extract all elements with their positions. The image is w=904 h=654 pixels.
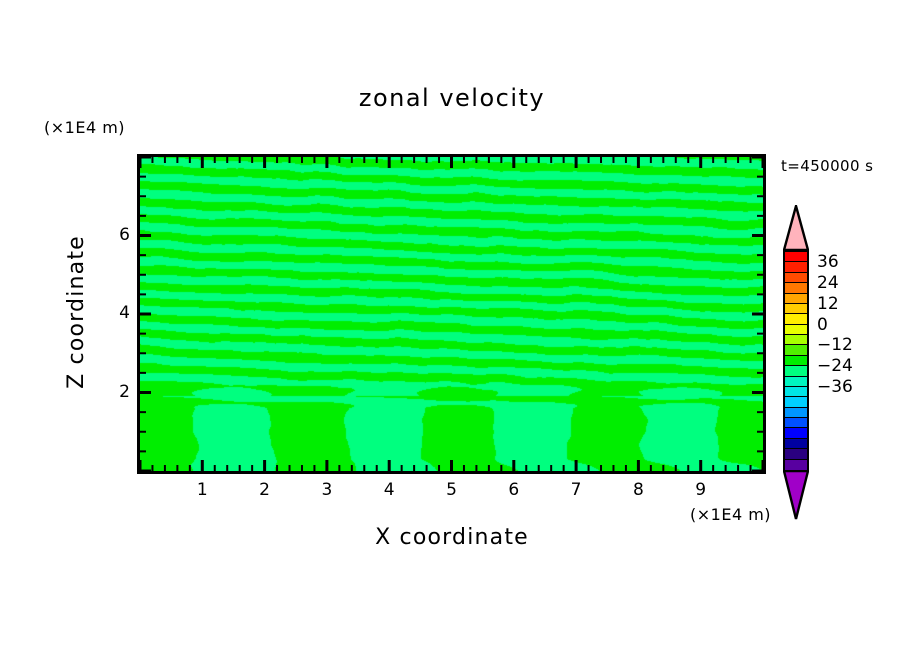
- colorbar-band: [785, 294, 807, 304]
- colorbar-band: [785, 418, 807, 428]
- colorbar-band: [785, 283, 807, 293]
- y-tick-label: 4: [100, 303, 130, 323]
- colorbar-band: [785, 449, 807, 459]
- colorbar-band: [785, 439, 807, 449]
- colorbar-band: [785, 397, 807, 407]
- y-axis-unit-label: (×1E4 m): [44, 118, 125, 137]
- colorbar-band: [785, 366, 807, 376]
- colorbar-band: [785, 345, 807, 355]
- colorbar-tick-label: 24: [817, 273, 839, 293]
- x-tick-label: 2: [250, 480, 280, 500]
- colorbar-tick-label: 12: [817, 294, 839, 314]
- x-tick-label: 8: [623, 480, 653, 500]
- colorbar-tick-label: −24: [817, 356, 853, 376]
- timestamp-label: t=450000 s: [781, 157, 873, 175]
- colorbar-bands: [783, 250, 809, 472]
- colorbar-band: [785, 335, 807, 345]
- y-axis-title: Z coordinate: [64, 212, 89, 412]
- contour-plot-area: [137, 154, 766, 474]
- colorbar: 3624120−12−24−36: [781, 205, 891, 520]
- colorbar-band: [785, 460, 807, 470]
- x-tick-label: 7: [561, 480, 591, 500]
- x-tick-label: 1: [187, 480, 217, 500]
- x-tick-label: 6: [499, 480, 529, 500]
- colorbar-band: [785, 356, 807, 366]
- colorbar-overflow-bottom-arrow: [783, 470, 809, 520]
- x-tick-label: 3: [312, 480, 342, 500]
- x-axis-unit-label: (×1E4 m): [690, 505, 771, 524]
- y-tick-label: 2: [100, 382, 130, 402]
- x-tick-label: 4: [374, 480, 404, 500]
- colorbar-tick-label: 36: [817, 252, 839, 272]
- colorbar-band: [785, 262, 807, 272]
- colorbar-band: [785, 387, 807, 397]
- colorbar-band: [785, 325, 807, 335]
- contour-field: [140, 157, 763, 471]
- figure-canvas: zonal velocity (×1E4 m) (×1E4 m) X coord…: [0, 0, 904, 654]
- colorbar-overflow-top-arrow: [783, 205, 809, 251]
- colorbar-band: [785, 428, 807, 438]
- x-axis-title: X coordinate: [250, 525, 654, 550]
- colorbar-band: [785, 304, 807, 314]
- colorbar-band: [785, 273, 807, 283]
- colorbar-tick-label: 0: [817, 315, 828, 335]
- page-title: zonal velocity: [0, 84, 904, 112]
- y-tick-label: 6: [100, 225, 130, 245]
- colorbar-band: [785, 314, 807, 324]
- colorbar-band: [785, 408, 807, 418]
- colorbar-band: [785, 377, 807, 387]
- colorbar-band: [785, 252, 807, 262]
- x-tick-label: 5: [437, 480, 467, 500]
- colorbar-tick-label: −36: [817, 377, 853, 397]
- colorbar-tick-label: −12: [817, 335, 853, 355]
- x-tick-label: 9: [686, 480, 716, 500]
